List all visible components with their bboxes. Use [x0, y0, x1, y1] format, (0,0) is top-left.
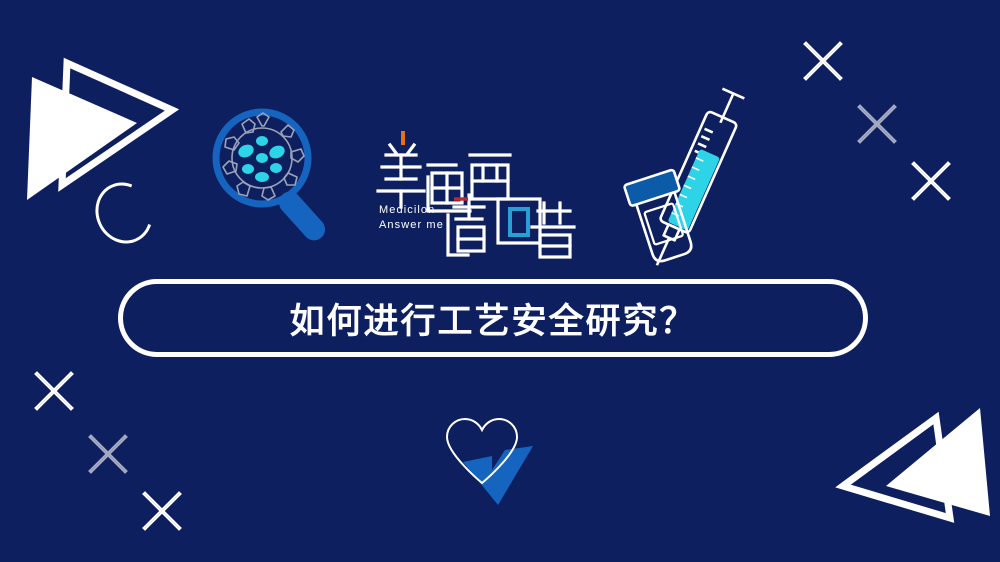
medicilon-logo: Medicilon Answer me: [370, 115, 575, 265]
logo-cyan-accent: [510, 209, 528, 235]
triangle-pair-right-icon: [12, 35, 177, 195]
heart-icon: [435, 410, 550, 510]
triangle-pair-left-icon: [838, 398, 1000, 558]
x-mark-icon: [28, 365, 80, 417]
syringe-vial-group: [628, 78, 768, 268]
logo-latin-line1: Medicilon: [379, 203, 444, 218]
x-mark-icon: [905, 155, 957, 207]
page-title: 如何进行工艺安全研究？: [289, 293, 696, 344]
x-mark-icon: [82, 428, 134, 480]
promo-banner: Medicilon Answer me: [0, 0, 1000, 562]
magnifier-virus-icon: [205, 105, 340, 235]
x-mark-icon: [797, 35, 849, 87]
title-banner: 如何进行工艺安全研究？: [118, 279, 868, 357]
x-mark-icon: [136, 485, 188, 537]
logo-latin-text: Medicilon Answer me: [379, 203, 444, 233]
x-mark-icon: [851, 98, 903, 150]
logo-latin-line2: Answer me: [379, 218, 444, 233]
